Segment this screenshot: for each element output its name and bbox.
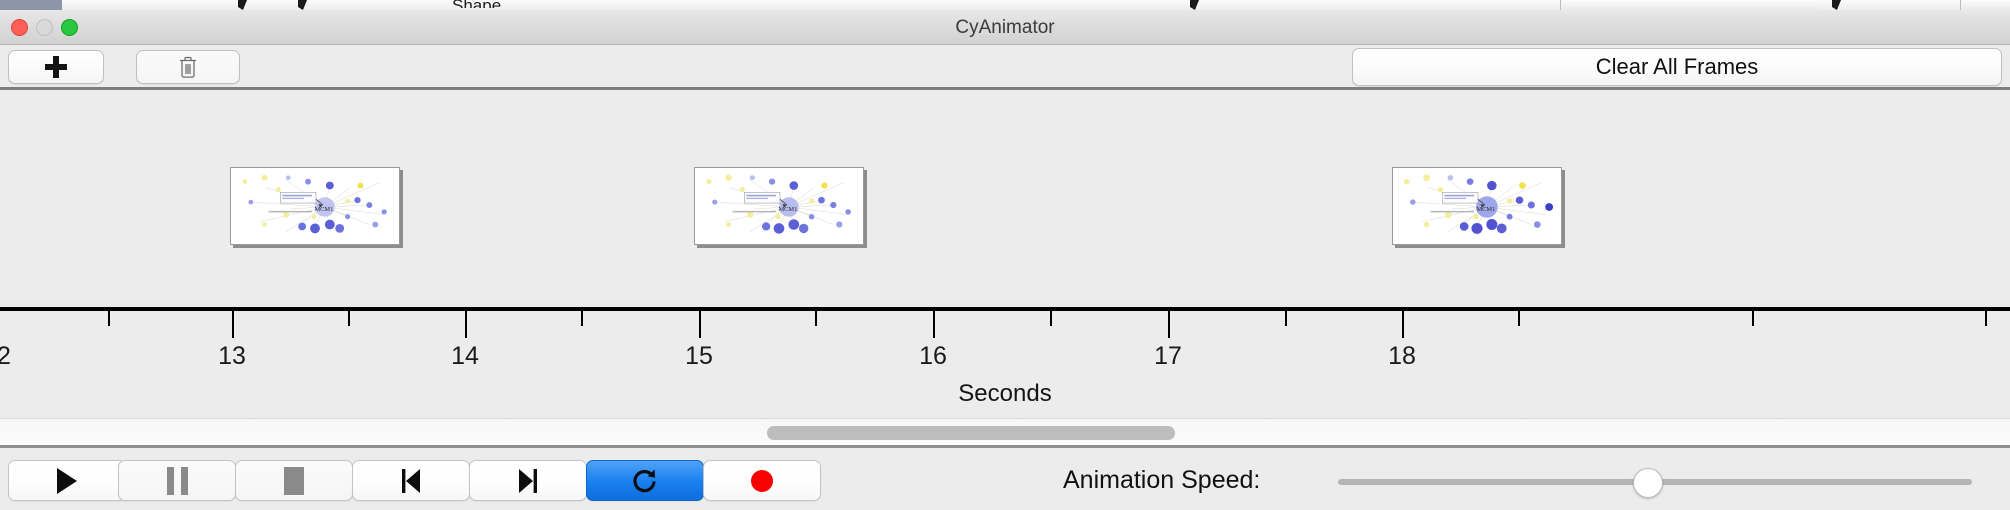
- cyanimator-window: Shape CyAnimator Clear All Frames: [0, 0, 2010, 510]
- record-button[interactable]: [703, 460, 821, 501]
- animation-speed-label: Animation Speed:: [1063, 460, 1260, 501]
- axis-tick-label: 18: [1388, 342, 1416, 371]
- play-button[interactable]: [8, 460, 126, 501]
- axis-minor-tick: [108, 311, 110, 326]
- timeline-horizontal-scrollbar[interactable]: [0, 418, 2010, 448]
- axis-major-tick: [933, 311, 935, 338]
- axis-major-tick: [1168, 311, 1170, 338]
- pause-button[interactable]: [118, 460, 236, 501]
- axis-minor-tick: [1285, 311, 1287, 326]
- axis-major-tick: [1402, 311, 1404, 338]
- playback-toolbar: Animation Speed:: [0, 451, 2010, 510]
- svg-text:MCM1: MCM1: [314, 206, 333, 213]
- add-frame-button[interactable]: [8, 50, 104, 84]
- skip-start-button[interactable]: [352, 460, 470, 501]
- axis-title: Seconds: [0, 380, 2010, 408]
- delete-frame-button[interactable]: [136, 50, 240, 84]
- frame-toolbar: Clear All Frames: [0, 46, 2010, 90]
- animation-speed-slider-knob[interactable]: [1633, 468, 1663, 498]
- axis-minor-tick: [348, 311, 350, 326]
- axis-minor-tick: [1050, 311, 1052, 326]
- axis-major-tick: [465, 311, 467, 338]
- axis-tick-label: 2: [0, 342, 11, 371]
- clear-all-frames-button[interactable]: Clear All Frames: [1352, 48, 2002, 86]
- skip-forward-icon: [513, 467, 543, 495]
- loop-icon: [630, 466, 660, 496]
- axis-tick-label: 13: [218, 342, 246, 371]
- trash-icon: [178, 55, 198, 79]
- axis-tick-label: 16: [919, 342, 947, 371]
- keyframe-thumbnail[interactable]: MCM1: [694, 167, 864, 245]
- stop-icon: [284, 467, 304, 495]
- timeline-axis: [0, 307, 2010, 311]
- loop-button[interactable]: [586, 460, 704, 501]
- timeline-panel[interactable]: MCM1: [0, 90, 2010, 408]
- axis-major-tick: [232, 311, 234, 338]
- axis-minor-tick: [1518, 311, 1520, 326]
- axis-major-tick: [699, 311, 701, 338]
- pause-icon: [167, 467, 188, 495]
- skip-back-icon: [396, 467, 426, 495]
- axis-minor-tick: [581, 311, 583, 326]
- window-title: CyAnimator: [0, 10, 2010, 45]
- clear-all-frames-label: Clear All Frames: [1596, 54, 1759, 80]
- axis-tick-label: 17: [1154, 342, 1182, 371]
- play-icon: [57, 468, 77, 494]
- axis-minor-tick: [815, 311, 817, 326]
- stop-button[interactable]: [235, 460, 353, 501]
- axis-minor-tick: [1985, 311, 1987, 326]
- network-thumbnail-graphic: MCM1: [695, 168, 863, 244]
- plus-icon: [45, 56, 67, 78]
- svg-text:MCM1: MCM1: [1476, 206, 1495, 213]
- skip-end-button[interactable]: [469, 460, 587, 501]
- network-thumbnail-graphic: MCM1: [1393, 168, 1561, 244]
- network-thumbnail-graphic: MCM1: [231, 168, 399, 244]
- axis-tick-label: 15: [685, 342, 713, 371]
- keyframe-thumbnail[interactable]: MCM1: [230, 167, 400, 245]
- scrollbar-thumb[interactable]: [767, 426, 1175, 440]
- keyframe-thumbnail[interactable]: MCM1: [1392, 167, 1562, 245]
- svg-text:MCM1: MCM1: [778, 206, 797, 213]
- background-strip-dark-segment: [0, 0, 62, 10]
- background-strip-label: Shape: [452, 0, 501, 8]
- record-icon: [748, 467, 776, 495]
- window-title-bar[interactable]: CyAnimator: [0, 10, 2010, 45]
- axis-minor-tick: [1752, 311, 1754, 326]
- axis-tick-label: 14: [451, 342, 479, 371]
